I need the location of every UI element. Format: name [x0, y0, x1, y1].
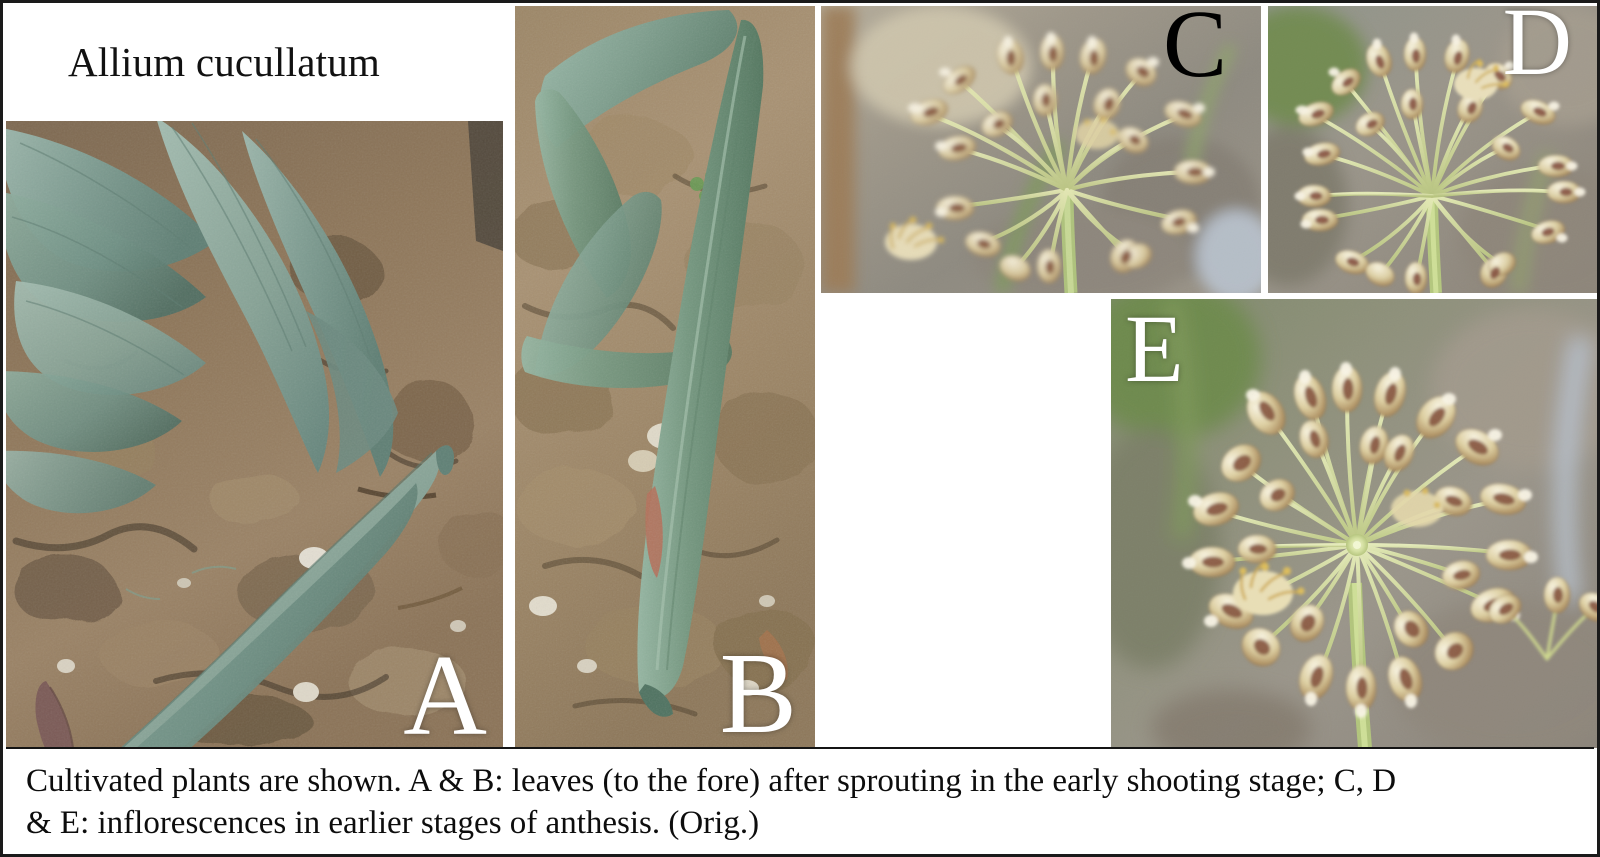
figure-caption: Cultivated plants are shown. A & B: leav…: [6, 747, 1594, 851]
panel-c-photo: [821, 6, 1261, 293]
panel-b-photo: [515, 6, 815, 748]
caption-text: Cultivated plants are shown. A & B: leav…: [26, 761, 1578, 844]
panel-d-photo: [1268, 6, 1600, 293]
panel-e-photo: [1111, 299, 1600, 748]
panel-a-leaves: A: [6, 121, 503, 748]
panel-b-leaf: B: [515, 6, 815, 748]
species-title-band: Allium cucullatum: [6, 6, 503, 118]
botanical-figure-plate: A: [0, 0, 1600, 857]
panel-d-inflorescence: D: [1268, 6, 1600, 293]
panel-c-inflorescence: C: [821, 6, 1261, 293]
page-title: Allium cucullatum: [68, 38, 380, 86]
gutter-left-of-e: [815, 293, 1111, 748]
panel-e-inflorescence: E: [1111, 299, 1600, 748]
panel-a-photo: [6, 121, 503, 748]
